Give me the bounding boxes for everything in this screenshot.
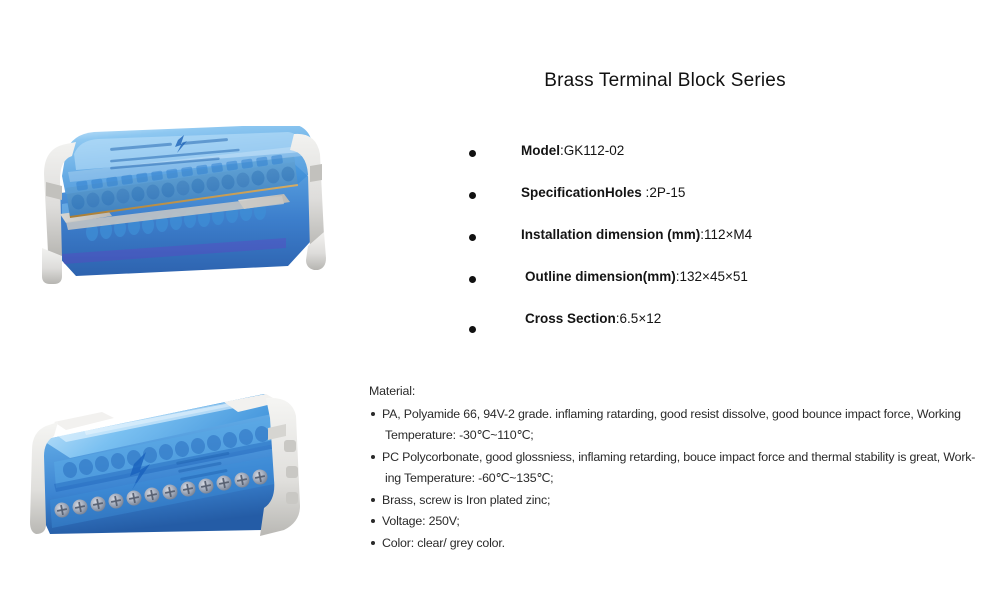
spec-row-installation-dimension: Installation dimension (mm):112×M4 (466, 226, 936, 268)
bullet-icon (469, 276, 476, 283)
bullet-icon (469, 326, 476, 333)
spec-label-outline-dimension: Outline dimension(mm) (525, 269, 676, 284)
bullet-icon (371, 412, 375, 416)
material-item-pc: PC Polycorbonate, good glossniess, infla… (369, 447, 994, 490)
bullet-icon (371, 541, 375, 545)
material-item-color: Color: clear/ grey color. (369, 533, 994, 555)
spec-value-specification-holes: 2P-15 (649, 185, 685, 200)
spec-row-specification-holes: SpecificationHoles :2P-15 (466, 184, 936, 226)
spec-text-outline-dimension: Outline dimension(mm):132×45×51 (525, 268, 748, 286)
bullet-icon (371, 455, 375, 459)
material-item-pa: PA, Polyamide 66, 94V-2 grade. inflaming… (369, 404, 994, 447)
bullet-icon (469, 150, 476, 157)
spec-label-cross-section: Cross Section (525, 311, 616, 326)
material-item-brass-line1: Brass, screw is Iron plated zinc; (382, 493, 550, 507)
spec-text-model: Model:GK112-02 (521, 142, 624, 160)
spec-text-specification-holes: SpecificationHoles :2P-15 (521, 184, 685, 202)
spec-text-cross-section: Cross Section:6.5×12 (525, 310, 661, 328)
spec-label-installation-dimension: Installation dimension (mm) (521, 227, 700, 242)
material-section: Material: PA, Polyamide 66, 94V-2 grade.… (369, 381, 994, 554)
material-item-voltage-line1: Voltage: 250V; (382, 514, 460, 528)
material-item-color-line1: Color: clear/ grey color. (382, 536, 505, 550)
spec-row-cross-section: Cross Section:6.5×12 (466, 310, 936, 352)
material-item-pa-line1: PA, Polyamide 66, 94V-2 grade. inflaming… (382, 407, 961, 421)
material-item-brass: Brass, screw is Iron plated zinc; (369, 490, 994, 512)
material-item-pc-line1: PC Polycorbonate, good glossniess, infla… (382, 450, 975, 464)
bullet-icon (469, 192, 476, 199)
specification-list: Model:GK112-02 SpecificationHoles :2P-15… (466, 142, 936, 352)
spec-row-model: Model:GK112-02 (466, 142, 936, 184)
material-item-pc-line2: ing Temperature: -60℃~135℃; (382, 468, 994, 490)
spec-text-installation-dimension: Installation dimension (mm):112×M4 (521, 226, 752, 244)
material-item-pa-line2: Temperature: -30℃~110℃; (382, 425, 994, 447)
bullet-icon (469, 234, 476, 241)
spec-value-cross-section: 6.5×12 (620, 311, 662, 326)
spec-value-model: GK112-02 (564, 143, 625, 158)
spec-row-outline-dimension: Outline dimension(mm):132×45×51 (466, 268, 936, 310)
page-title: Brass Terminal Block Series (430, 70, 900, 92)
cap-slots (284, 440, 298, 504)
spec-value-installation-dimension: 112×M4 (704, 227, 752, 242)
spec-label-specification-holes: SpecificationHoles (521, 185, 642, 200)
spec-value-outline-dimension: 132×45×51 (680, 269, 748, 284)
material-heading: Material: (369, 381, 994, 403)
bullet-icon (371, 519, 375, 523)
bullet-icon (371, 498, 375, 502)
product-photo-closed-view (28, 388, 328, 548)
material-item-voltage: Voltage: 250V; (369, 511, 994, 533)
spec-label-model: Model (521, 143, 560, 158)
product-photo-open-view (32, 126, 332, 301)
